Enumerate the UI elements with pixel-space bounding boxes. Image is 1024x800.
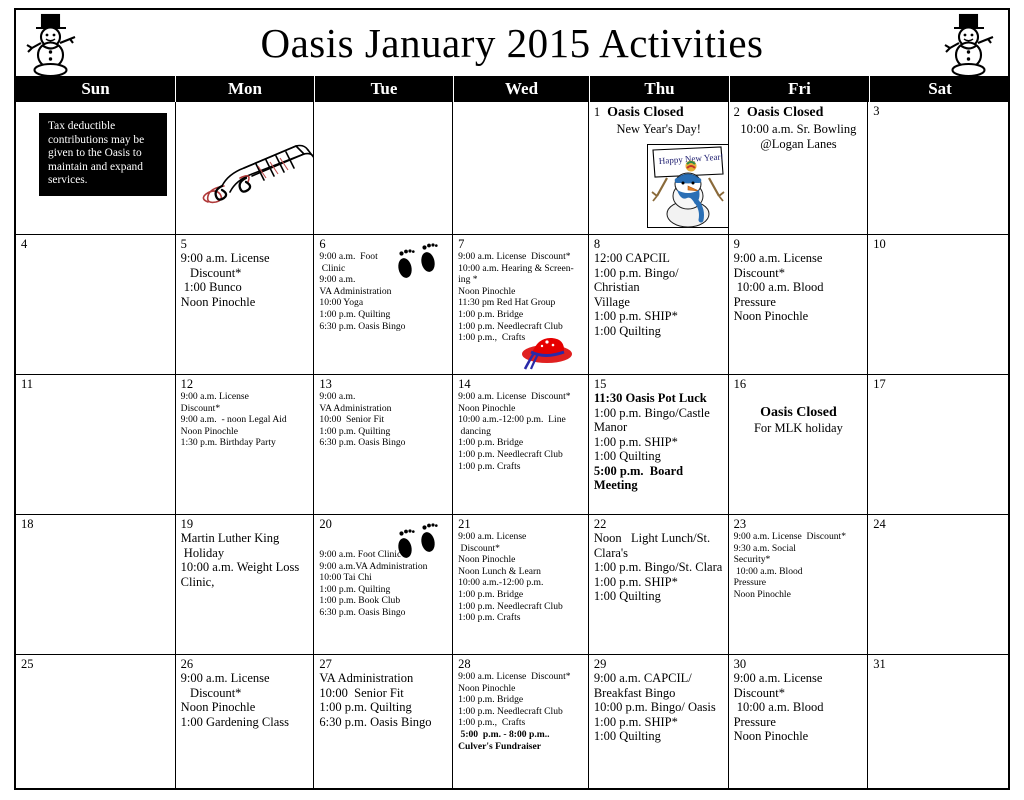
day-number: 28 <box>458 658 471 671</box>
red-hat-clipart <box>514 332 576 370</box>
event-line: 1:00 p.m. Bridge <box>458 589 584 601</box>
day-number: 14 <box>458 378 471 391</box>
event-line: 1:00 p.m. Needlecraft Club <box>458 601 584 613</box>
day-number: 16 <box>734 378 747 391</box>
event-line: 6:30 p.m. Oasis Bingo <box>319 321 448 333</box>
event-line: Noon Pinochle <box>458 683 584 695</box>
day-number: 17 <box>873 378 886 391</box>
snowman-icon <box>938 12 1004 76</box>
event-line: 1:00 p.m. Bingo/Castle Manor <box>594 406 724 435</box>
event-line: 1:00 p.m. SHIP* <box>594 715 724 730</box>
weekday-header-sun: Sun <box>16 76 176 102</box>
closure-headline: Oasis Closed <box>734 405 864 421</box>
event-line: 9:00 a.m. - noon Legal Aid <box>181 414 310 426</box>
event-line: 1:00 p.m. Needlecraft Club <box>458 449 584 461</box>
event-line: 11:30 Oasis Pot Luck <box>594 391 724 406</box>
event-line: 1:00 p.m. Needlecraft Club <box>458 706 584 718</box>
event-line: Discount* <box>181 403 310 415</box>
event-line: 10:00 p.m. Bingo/ Oasis <box>594 700 724 715</box>
event-line: Noon Pinochle <box>734 729 864 744</box>
event-line: 9:00 a.m. License <box>458 531 584 543</box>
event-line: 1:00 p.m. Book Club <box>319 595 448 607</box>
event-line: 1:00 p.m. Bridge <box>458 309 584 321</box>
event-line: 9:00 a.m. License <box>181 391 310 403</box>
event-line: 5:00 p.m. Board Meeting <box>594 464 724 493</box>
event-line: 1:00 Quilting <box>594 589 724 604</box>
event-line: Noon Pinochle <box>181 295 310 310</box>
event-line: 10:00 a.m. Weight Loss <box>181 560 310 575</box>
day-cell-empty[interactable]: Tax deductible contributions may be give… <box>16 102 176 234</box>
weekday-header-sat: Sat <box>870 76 1010 102</box>
day-cell-5[interactable]: 59:00 a.m. License Discount* 1:00 BuncoN… <box>176 235 315 374</box>
day-number: 11 <box>21 378 33 391</box>
day-number: 22 <box>594 518 607 531</box>
event-line: Noon Pinochle <box>458 554 584 566</box>
event-line: Pressure <box>734 577 864 589</box>
event-line: 10:00 Yoga <box>319 297 448 309</box>
day-cell-20[interactable]: 209:00 a.m. Foot Clinic9:00 a.m.VA Admin… <box>314 515 453 654</box>
day-number: 31 <box>873 658 886 671</box>
event-line: Noon Pinochle <box>734 309 864 324</box>
event-line: VA Administration <box>319 286 448 298</box>
sled-clipart <box>200 128 315 208</box>
day-number: 9 <box>734 238 740 251</box>
event-line: Noon Pinochle <box>458 403 584 415</box>
event-line: 1:00 p.m. Quilting <box>319 426 448 438</box>
day-cell-19[interactable]: 19Martin Luther King Holiday10:00 a.m. W… <box>176 515 315 654</box>
event-line: 1:00 p.m. Bridge <box>458 437 584 449</box>
event-line: 1:00 p.m. SHIP* <box>594 309 724 324</box>
day-cell-31[interactable]: 31 <box>868 655 1008 788</box>
day-number: 10 <box>873 238 886 251</box>
weekday-header-row: SunMonTueWedThuFriSat <box>14 76 1010 102</box>
event-line: 1:00 Quilting <box>594 324 724 339</box>
day-cell-2[interactable]: 2Oasis Closed10:00 a.m. Sr. Bowling@Loga… <box>729 102 869 234</box>
event-line: 10:00 a.m. Blood <box>734 700 864 715</box>
event-line: 1:00 p.m. Needlecraft Club <box>458 321 584 333</box>
day-cell-22[interactable]: 22Noon Light Lunch/St.Clara's1:00 p.m. B… <box>589 515 729 654</box>
event-line: ing * <box>458 274 584 286</box>
day-number: 8 <box>594 238 600 251</box>
day-number: 27 <box>319 658 332 671</box>
calendar-week-row: Tax deductible contributions may be give… <box>16 102 1008 235</box>
snowman-icon <box>20 12 86 76</box>
calendar-page: Oasis January 2015 Activities SunMonTueW… <box>0 0 1024 800</box>
day-cell-12[interactable]: 129:00 a.m. LicenseDiscount*9:00 a.m. - … <box>176 375 315 514</box>
event-line: 1:00 p.m. Quilting <box>319 700 448 715</box>
event-line: 9:00 a.m. License Discount* <box>458 671 584 683</box>
day-cell-25[interactable]: 25 <box>16 655 176 788</box>
day-cell-empty[interactable] <box>176 102 315 234</box>
day-cell-28[interactable]: 289:00 a.m. License Discount*Noon Pinoch… <box>453 655 589 788</box>
event-line: Pressure <box>734 295 864 310</box>
calendar-grid: Tax deductible contributions may be give… <box>14 102 1010 790</box>
day-cell-16[interactable]: 16Oasis ClosedFor MLK holiday <box>729 375 869 514</box>
event-line: Discount* <box>458 543 584 555</box>
event-line: Noon Pinochle <box>734 589 864 601</box>
event-line: 1:00 p.m. Bingo/ Christian <box>594 266 724 295</box>
event-line: Breakfast Bingo <box>594 686 724 701</box>
event-line: 6:30 p.m. Oasis Bingo <box>319 715 448 730</box>
page-title: Oasis January 2015 Activities <box>260 23 763 64</box>
day-cell-empty[interactable] <box>453 102 589 234</box>
weekday-header-thu: Thu <box>590 76 730 102</box>
event-line: @Logan Lanes <box>734 137 864 152</box>
event-line: 1:00 p.m. Bingo/St. Clara <box>594 560 724 575</box>
event-line: 1:30 p.m. Birthday Party <box>181 437 310 449</box>
event-line: Holiday <box>181 546 310 561</box>
event-line: Discount* <box>181 266 310 281</box>
day-cell-11[interactable]: 11 <box>16 375 176 514</box>
event-line: 1:00 p.m. SHIP* <box>594 575 724 590</box>
day-number: 3 <box>873 105 879 118</box>
event-line: 1:00 p.m., Crafts <box>458 717 584 729</box>
event-line: VA Administration <box>319 671 448 686</box>
event-line: Noon Lunch & Learn <box>458 566 584 578</box>
event-line: 9:00 a.m. License <box>181 671 310 686</box>
event-line: 9:00 a.m. CAPCIL/ <box>594 671 724 686</box>
tax-deductible-notice: Tax deductible contributions may be give… <box>39 113 167 196</box>
event-line: 10:00 a.m. Blood <box>734 280 864 295</box>
day-cell-13[interactable]: 139:00 a.m.VA Administration10:00 Senior… <box>314 375 453 514</box>
closure-headline: Oasis Closed <box>747 105 824 121</box>
event-line: 10:00 Senior Fit <box>319 414 448 426</box>
event-line: 9:00 a.m. License Discount* <box>458 251 584 263</box>
day-cell-29[interactable]: 299:00 a.m. CAPCIL/Breakfast Bingo10:00 … <box>589 655 729 788</box>
weekday-header-tue: Tue <box>315 76 454 102</box>
calendar-week-row: 459:00 a.m. License Discount* 1:00 Bunco… <box>16 235 1008 375</box>
day-cell-9[interactable]: 99:00 a.m. LicenseDiscount* 10:00 a.m. B… <box>729 235 869 374</box>
event-line: 5:00 p.m. - 8:00 p.m.. <box>458 729 584 741</box>
calendar-week-row: 1819Martin Luther King Holiday10:00 a.m.… <box>16 515 1008 655</box>
day-number: 26 <box>181 658 194 671</box>
event-line: Noon Pinochle <box>181 426 310 438</box>
event-line: 1:00 p.m. SHIP* <box>594 435 724 450</box>
event-line: 1:00 p.m. Bridge <box>458 694 584 706</box>
day-cell-27[interactable]: 27VA Administration10:00 Senior Fit1:00 … <box>314 655 453 788</box>
event-line: 11:30 pm Red Hat Group <box>458 297 584 309</box>
event-line: Noon Pinochle <box>181 700 310 715</box>
day-number: 7 <box>458 238 464 251</box>
event-line: Martin Luther King <box>181 531 310 546</box>
event-line: 1:00 Quilting <box>594 729 724 744</box>
event-line: 1:00 Quilting <box>594 449 724 464</box>
event-line: 1:00 p.m. Crafts <box>458 612 584 624</box>
event-line: Noon Light Lunch/St. <box>594 531 724 546</box>
day-number: 23 <box>734 518 747 531</box>
day-cell-14[interactable]: 149:00 a.m. License Discount*Noon Pinoch… <box>453 375 589 514</box>
closure-headline: Oasis Closed <box>607 105 684 121</box>
day-number: 30 <box>734 658 747 671</box>
day-number: 24 <box>873 518 886 531</box>
event-line: 6:30 p.m. Oasis Bingo <box>319 437 448 449</box>
event-line: 10:00 a.m. Blood <box>734 566 864 578</box>
day-cell-26[interactable]: 269:00 a.m. License Discount*Noon Pinoch… <box>176 655 315 788</box>
event-line: 12:00 CAPCIL <box>594 251 724 266</box>
calendar-title-bar: Oasis January 2015 Activities <box>14 8 1010 76</box>
day-number: 21 <box>458 518 471 531</box>
event-line: 9:00 a.m. License <box>181 251 310 266</box>
event-line: VA Administration <box>319 403 448 415</box>
day-cell-4[interactable]: 4 <box>16 235 176 374</box>
event-line: 10:00 a.m. Sr. Bowling <box>734 122 864 137</box>
footprints-clipart <box>392 521 444 563</box>
day-cell-6[interactable]: 69:00 a.m. Foot Clinic9:00 a.m.VA Admini… <box>314 235 453 374</box>
event-line: 1:00 p.m. Quilting <box>319 584 448 596</box>
event-line: 10:00 Senior Fit <box>319 686 448 701</box>
day-cell-30[interactable]: 309:00 a.m. LicenseDiscount* 10:00 a.m. … <box>729 655 869 788</box>
event-line: 9:00 a.m. License Discount* <box>458 391 584 403</box>
day-number: 25 <box>21 658 34 671</box>
event-line: Discount* <box>181 686 310 701</box>
footprints-clipart <box>392 241 444 283</box>
day-number: 13 <box>319 378 332 391</box>
event-line: 9:00 a.m. License Discount* <box>734 531 864 543</box>
event-line: 9:00 a.m. License <box>734 671 864 686</box>
event-line: Village <box>594 295 724 310</box>
day-cell-7[interactable]: 79:00 a.m. License Discount*10:00 a.m. H… <box>453 235 589 374</box>
day-number: 4 <box>21 238 27 251</box>
day-number: 12 <box>181 378 194 391</box>
day-number: 18 <box>21 518 34 531</box>
day-cell-23[interactable]: 239:00 a.m. License Discount*9:30 a.m. S… <box>729 515 869 654</box>
day-cell-21[interactable]: 219:00 a.m. License Discount*Noon Pinoch… <box>453 515 589 654</box>
calendar-week-row: 25269:00 a.m. License Discount*Noon Pino… <box>16 655 1008 788</box>
calendar-week-row: 11129:00 a.m. LicenseDiscount*9:00 a.m. … <box>16 375 1008 515</box>
event-line: 10:00 a.m. Hearing & Screen- <box>458 263 584 275</box>
day-cell-17[interactable]: 17 <box>868 375 1008 514</box>
day-cell-3[interactable]: 3 <box>868 102 1008 234</box>
event-line: 1:00 p.m. Quilting <box>319 309 448 321</box>
event-line: Clinic, <box>181 575 310 590</box>
happy-new-year-snowman-clipart: Happy New Year! <box>647 144 729 228</box>
event-line: dancing <box>458 426 584 438</box>
day-number: 19 <box>181 518 194 531</box>
event-line: 1:00 p.m. Crafts <box>458 461 584 473</box>
event-line: 10:00 a.m.-12:00 p.m. Line <box>458 414 584 426</box>
day-cell-8[interactable]: 812:00 CAPCIL1:00 p.m. Bingo/ ChristianV… <box>589 235 729 374</box>
event-line: Culver's Fundraiser <box>458 741 584 753</box>
day-number: 6 <box>319 238 325 251</box>
day-number: 1 <box>594 106 600 119</box>
weekday-header-mon: Mon <box>176 76 315 102</box>
day-number: 29 <box>594 658 607 671</box>
day-cell-10[interactable]: 10 <box>868 235 1008 374</box>
event-line: 10:00 Tai Chi <box>319 572 448 584</box>
event-line: 9:00 a.m. <box>319 391 448 403</box>
event-line: 1:00 Bunco <box>181 280 310 295</box>
day-cell-empty[interactable] <box>314 102 453 234</box>
event-line: Discount* <box>734 266 864 281</box>
weekday-header-wed: Wed <box>454 76 590 102</box>
day-cell-1[interactable]: 1Oasis ClosedNew Year's Day! Happy New Y… <box>589 102 729 234</box>
event-line: 10:00 a.m.-12:00 p.m. <box>458 577 584 589</box>
event-line: Security* <box>734 554 864 566</box>
day-cell-15[interactable]: 1511:30 Oasis Pot Luck1:00 p.m. Bingo/Ca… <box>589 375 729 514</box>
day-cell-24[interactable]: 24 <box>868 515 1008 654</box>
event-line: 6:30 p.m. Oasis Bingo <box>319 607 448 619</box>
event-line: 9:00 a.m. License <box>734 251 864 266</box>
event-line: Clara's <box>594 546 724 561</box>
event-line: Noon Pinochle <box>458 286 584 298</box>
day-cell-18[interactable]: 18 <box>16 515 176 654</box>
event-line: 1:00 Gardening Class <box>181 715 310 730</box>
day-number: 2 <box>734 106 740 119</box>
event-line: 9:30 a.m. Social <box>734 543 864 555</box>
event-line: For MLK holiday <box>734 421 864 436</box>
weekday-header-fri: Fri <box>730 76 870 102</box>
day-number: 5 <box>181 238 187 251</box>
event-line: Pressure <box>734 715 864 730</box>
event-line: New Year's Day! <box>594 122 724 137</box>
day-number: 15 <box>594 378 607 391</box>
day-number: 20 <box>319 518 332 531</box>
event-line: Discount* <box>734 686 864 701</box>
